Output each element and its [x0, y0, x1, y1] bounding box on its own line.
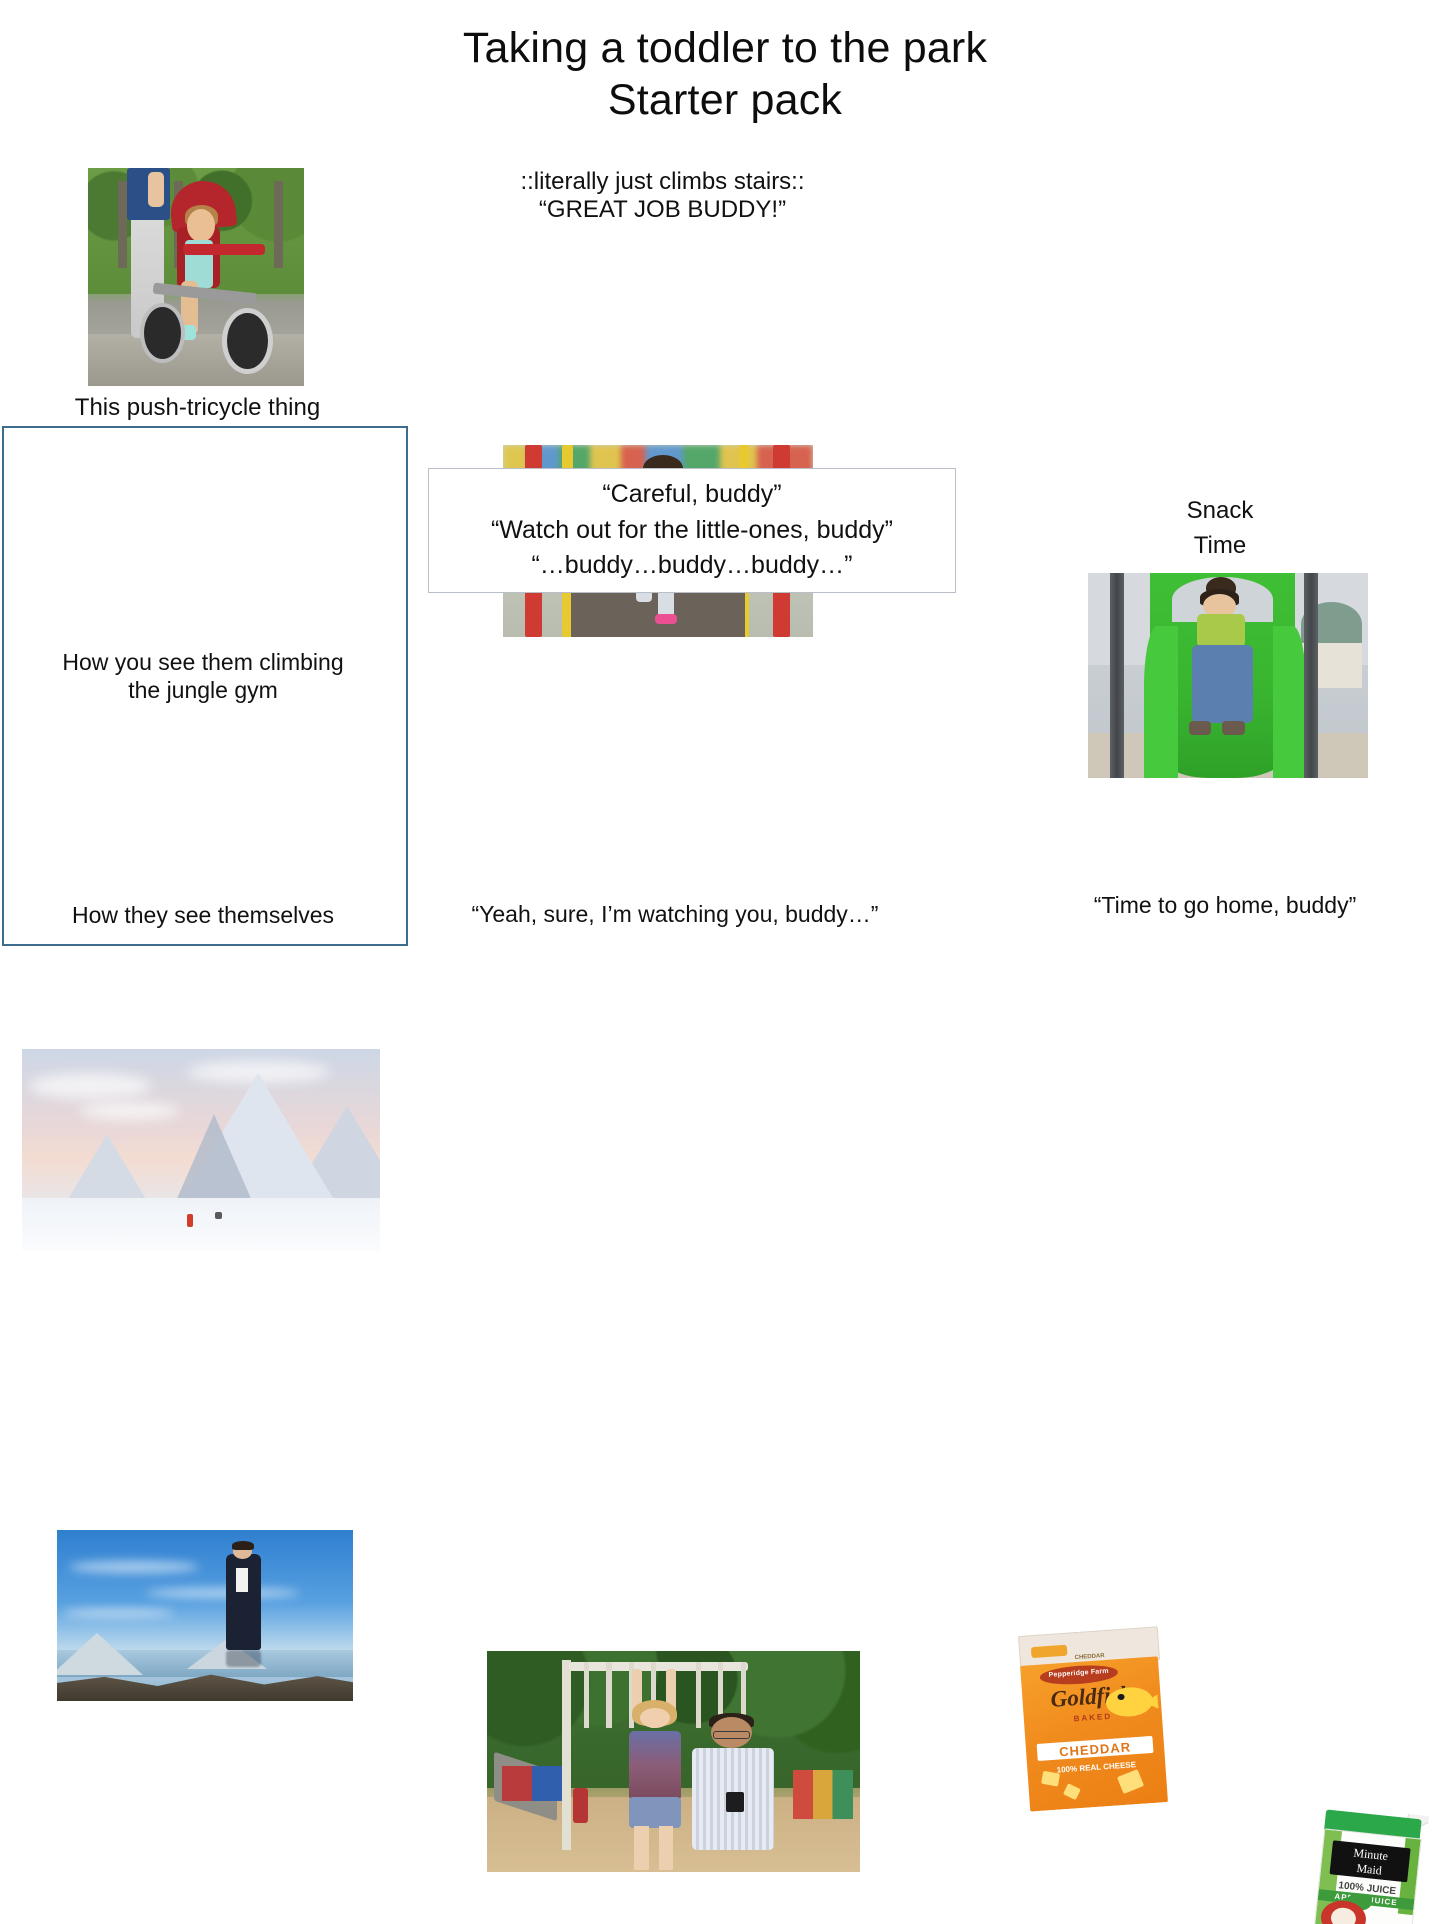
giant-man-hair — [232, 1541, 254, 1550]
pepperidge-farm-label: Pepperidge Farm — [1040, 1667, 1118, 1679]
juice-box-front: Minute Maid 100% JUICE APPLE JUICE 100 — [1307, 1829, 1422, 1924]
slide-right-wall — [1273, 626, 1307, 778]
cracker-graphic — [1117, 1769, 1144, 1794]
quote-line-1: “Careful, buddy” — [491, 477, 893, 513]
slide-left-wall — [1144, 626, 1178, 778]
juice-box: Minute Maid 100% JUICE APPLE JUICE 100 — [1301, 1805, 1429, 1924]
child-leg — [659, 1826, 674, 1870]
title-line-1: Taking a toddler to the park — [0, 22, 1450, 74]
giant-man-shirt — [236, 1568, 248, 1592]
snack-time-label-line-1: Snack — [1175, 495, 1265, 526]
tricycle-caption: This push-tricycle thing — [40, 392, 355, 423]
cloud-wisp — [63, 1609, 175, 1618]
buddy-quote-box: “Careful, buddy” “Watch out for the litt… — [428, 468, 956, 593]
tricycle-photo — [88, 168, 304, 386]
tricycle-rear-wheel — [140, 303, 185, 363]
toddler-green-top — [1197, 614, 1245, 647]
reality-caption: How they see themselves — [14, 901, 392, 931]
tree-trunk — [118, 181, 127, 268]
playset-red-panel — [502, 1766, 532, 1801]
snow-field — [22, 1198, 380, 1251]
minute-maid-logo-plate: Minute Maid — [1330, 1840, 1411, 1882]
shoe — [1189, 721, 1211, 735]
shoe — [1222, 721, 1244, 735]
child-shorts — [629, 1797, 681, 1828]
background-playset — [793, 1770, 853, 1819]
climber-red-jacket — [187, 1214, 193, 1227]
cloud-wisp — [69, 1561, 199, 1573]
expectation-caption-line-1: How you see them climbing — [14, 648, 392, 678]
playset-blue-panel — [532, 1766, 562, 1801]
cracker-graphic — [1063, 1783, 1081, 1800]
monkey-bar-rung — [584, 1662, 589, 1728]
monkey-bar-post — [562, 1660, 571, 1850]
tricycle-handlebar — [183, 244, 265, 255]
quote-line-2: “Watch out for the little-ones, buddy” — [491, 513, 893, 549]
giant-man-photo — [57, 1530, 353, 1701]
background-child — [573, 1788, 588, 1823]
title-line-2: Starter pack — [0, 74, 1450, 126]
stairs-caption-line-1: ::literally just climbs stairs:: — [450, 166, 875, 197]
adult-arm — [148, 172, 163, 207]
going-home-caption: “Time to go home, buddy” — [1000, 891, 1450, 921]
goldfish-box-front: Pepperidge Farm Goldfish BAKED CHEDDAR 1… — [1020, 1656, 1168, 1811]
child-leg — [634, 1826, 649, 1870]
goldfish-box: CHEDDAR Pepperidge Farm Goldfish BAKED C… — [1012, 1626, 1174, 1812]
quote-line-3: “…buddy…buddy…buddy…” — [491, 548, 893, 584]
snack-time-label-line-2: Time — [1175, 530, 1265, 561]
distant-mountain — [57, 1633, 143, 1675]
tricycle-front-wheel — [222, 308, 273, 375]
monkey-bars-caption: “Yeah, sure, I’m watching you, buddy…” — [430, 900, 920, 930]
climber-second — [215, 1212, 222, 1219]
monkey-bar-rung — [606, 1662, 611, 1728]
monkey-bar-rung — [696, 1662, 701, 1728]
child-dress — [629, 1731, 681, 1802]
cloud-wisp — [146, 1588, 300, 1598]
expectation-caption-line-2: the jungle gym — [14, 676, 392, 706]
slide-canvas: Taking a toddler to the park Starter pac… — [0, 0, 1450, 962]
adult-jeans — [1192, 645, 1254, 723]
slide-photo — [1088, 573, 1368, 778]
cracker-graphic — [1041, 1771, 1060, 1787]
mountain-photo — [22, 1049, 380, 1251]
stairs-caption-line-2: “GREAT JOB BUDDY!” — [450, 194, 875, 225]
tree-trunk — [274, 181, 283, 268]
monkey-bars-photo — [487, 1651, 860, 1872]
smartphone — [726, 1792, 745, 1812]
dad-glasses — [713, 1731, 750, 1740]
page-title: Taking a toddler to the park Starter pac… — [0, 22, 1450, 127]
pink-shoe — [655, 614, 677, 624]
support-post — [1110, 573, 1124, 778]
water-reflection — [226, 1650, 262, 1667]
support-post — [1304, 573, 1318, 778]
